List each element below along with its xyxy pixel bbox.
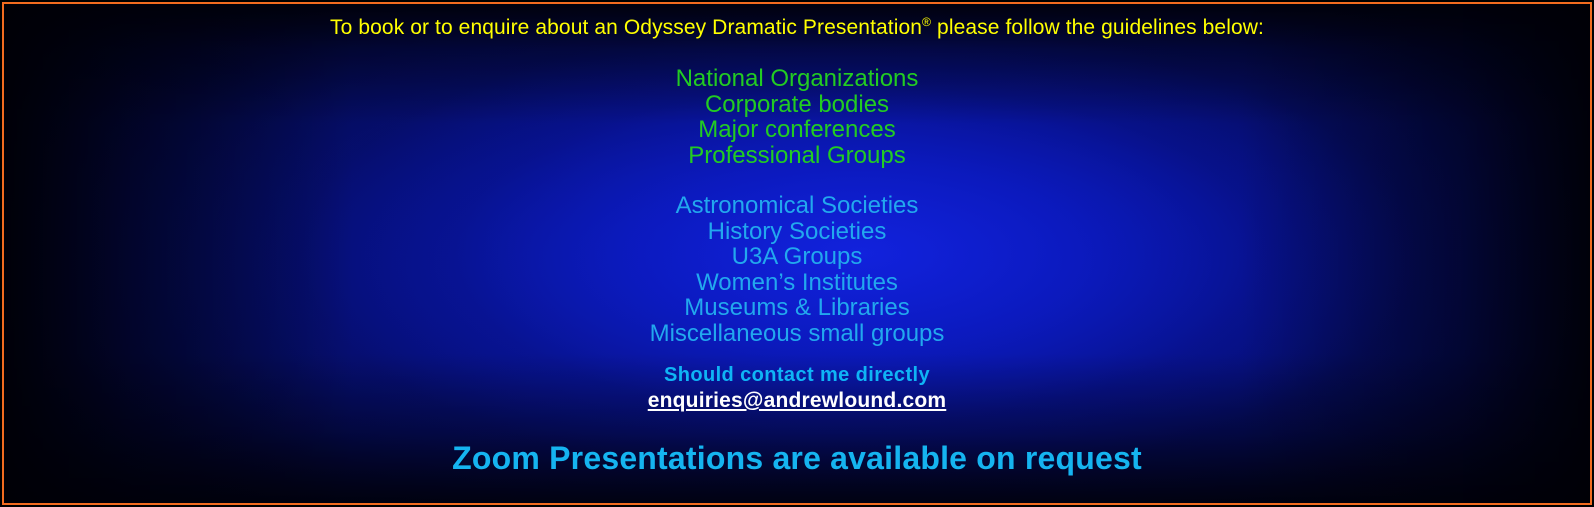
registered-trademark-symbol: ® bbox=[922, 15, 931, 29]
list-item: Major conferences bbox=[0, 117, 1594, 143]
zoom-availability-note: Zoom Presentations are available on requ… bbox=[0, 440, 1594, 477]
page-title: To book or to enquire about an Odyssey D… bbox=[0, 16, 1594, 40]
list-item: Women’s Institutes bbox=[0, 270, 1594, 296]
list-item: Astronomical Societies bbox=[0, 193, 1594, 219]
list-item: History Societies bbox=[0, 219, 1594, 245]
audience-group-organizations: National Organizations Corporate bodies … bbox=[0, 66, 1594, 168]
list-item: Miscellaneous small groups bbox=[0, 321, 1594, 347]
list-item: U3A Groups bbox=[0, 244, 1594, 270]
audience-group-societies: Astronomical Societies History Societies… bbox=[0, 193, 1594, 346]
presentation-slide: To book or to enquire about an Odyssey D… bbox=[0, 0, 1594, 507]
contact-email-line: enquiries@andrewlound.com bbox=[0, 389, 1594, 413]
contact-email-link[interactable]: enquiries@andrewlound.com bbox=[648, 389, 947, 412]
list-item: National Organizations bbox=[0, 66, 1594, 92]
contact-instruction: Should contact me directly bbox=[0, 364, 1594, 387]
list-item: Professional Groups bbox=[0, 143, 1594, 169]
headline-text-before: To book or to enquire about an Odyssey D… bbox=[330, 16, 922, 39]
list-item: Museums & Libraries bbox=[0, 295, 1594, 321]
list-item: Corporate bodies bbox=[0, 92, 1594, 118]
headline-text-after: please follow the guidelines below: bbox=[931, 16, 1264, 39]
